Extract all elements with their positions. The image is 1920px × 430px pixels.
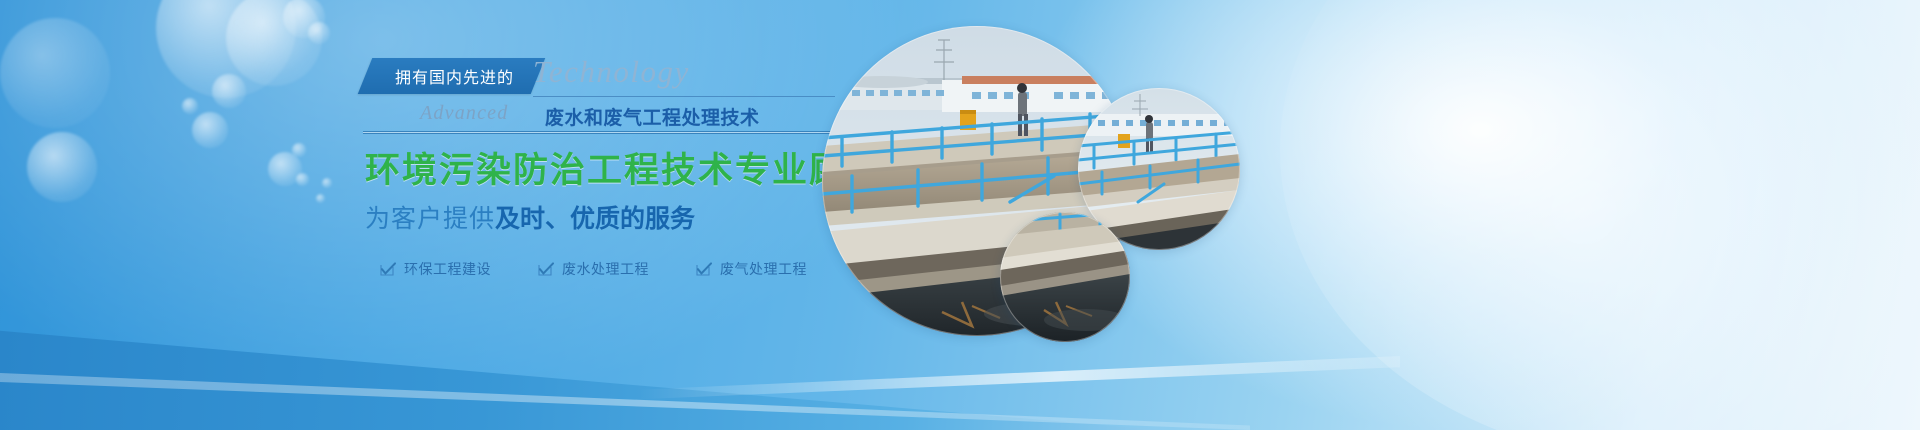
check-icon — [537, 262, 554, 277]
bokeh-bubble-icon — [0, 18, 110, 128]
feature-item-2: 废气处理工程 — [695, 259, 807, 279]
subtitle-row: Advanced 废水和废气工程处理技术 — [365, 101, 835, 133]
bokeh-bubble-icon — [308, 22, 330, 44]
hero-banner: 拥有国内先进的 Technology Advanced 废水和废气工程处理技术 … — [0, 0, 1920, 430]
advanced-word: Advanced — [420, 102, 508, 125]
bokeh-bubble-icon — [192, 112, 228, 148]
photo-wastewater-treatment-plant-small — [1000, 212, 1130, 342]
check-icon — [695, 262, 712, 277]
bokeh-bubble-icon — [316, 194, 325, 203]
bokeh-bubble-icon — [322, 178, 332, 188]
bokeh-bubble-icon — [292, 143, 306, 157]
divider-middle — [363, 131, 835, 134]
slogan: 为客户提供及时、优质的服务 — [365, 199, 835, 235]
bokeh-bubble-icon — [182, 98, 198, 114]
subtitle-cn: 废水和废气工程处理技术 — [545, 103, 760, 130]
feature-list: 环保工程建设 废水处理工程 废气处理工程 — [365, 259, 835, 279]
banner-copy: 拥有国内先进的 Technology Advanced 废水和废气工程处理技术 … — [365, 56, 835, 279]
feature-item-label: 废气处理工程 — [720, 259, 807, 279]
eyebrow-tag-label: 拥有国内先进的 — [395, 64, 514, 88]
eyebrow-tag: 拥有国内先进的 — [358, 58, 546, 94]
divider-top — [533, 96, 835, 97]
slogan-bold: 及时、优质的服务 — [495, 205, 695, 233]
feature-item-label: 废水处理工程 — [562, 259, 649, 279]
slogan-plain: 为客户提供 — [365, 205, 495, 233]
bokeh-bubble-icon — [212, 74, 246, 108]
bokeh-bubble-icon — [296, 173, 309, 186]
check-icon — [379, 262, 396, 277]
bokeh-bubble-icon — [268, 152, 302, 186]
bokeh-bubble-icon — [156, 0, 296, 98]
tag-row: 拥有国内先进的 Technology — [365, 56, 835, 96]
feature-item-0: 环保工程建设 — [379, 259, 491, 279]
technology-word: Technology — [533, 54, 690, 90]
headline: 环境污染防治工程技术专业顾问 — [365, 142, 835, 193]
feature-item-label: 环保工程建设 — [404, 259, 491, 279]
bokeh-bubble-icon — [283, 0, 325, 38]
bokeh-bubble-icon — [27, 132, 97, 202]
bokeh-bubble-icon — [226, 0, 322, 86]
feature-item-1: 废水处理工程 — [537, 259, 649, 279]
